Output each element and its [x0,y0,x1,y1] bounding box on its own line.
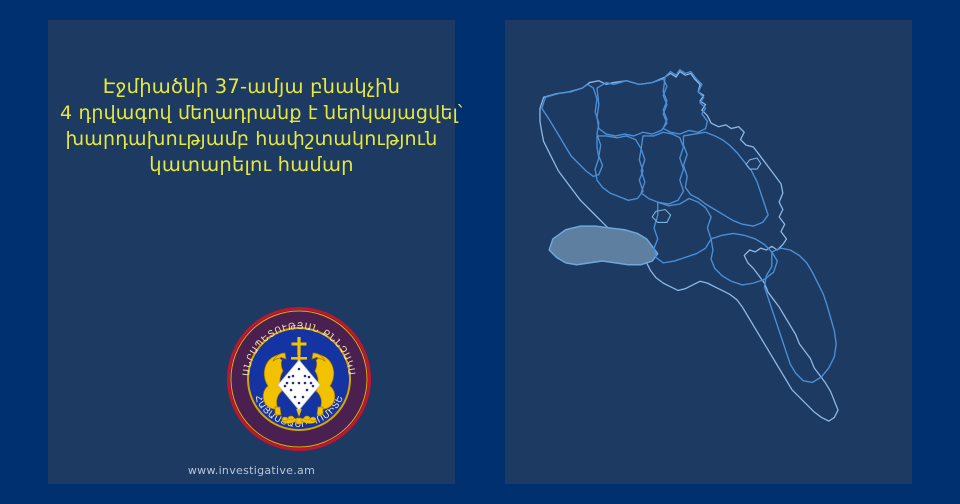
left-panel: Էջմիածնի 37-ամյա բնակչին 4 դրվագով մեղադ… [48,20,455,484]
headline-line-1: Էջմիածնի 37-ամյա բնակչին [60,74,443,100]
emblem-icon: ՀԱՆՐԱՊԵՏՈՒԹՅԱՆ ՔՆՆՉԱԿԱՆ ՀԱՅԱՍՏԱՆԻ ԿՈՄԻՏԵ [223,303,375,455]
poster-canvas: Էջմիածնի 37-ամյա բնակչին 4 դրվագով մեղադ… [0,0,960,504]
headline-text: Էջմիածնի 37-ամյա բնակչին 4 դրվագով մեղադ… [60,74,443,178]
headline-line-3: խարդախությամբ հափշտակություն [60,126,443,152]
headline-line-4: կատարելու համար [60,152,443,178]
headline-line-2: 4 դրվագով մեղադրանք է ներկայացվել՝ [60,100,443,126]
right-panel [505,20,912,484]
website-url: www.investigative.am [60,464,443,477]
armenia-map [505,20,912,484]
